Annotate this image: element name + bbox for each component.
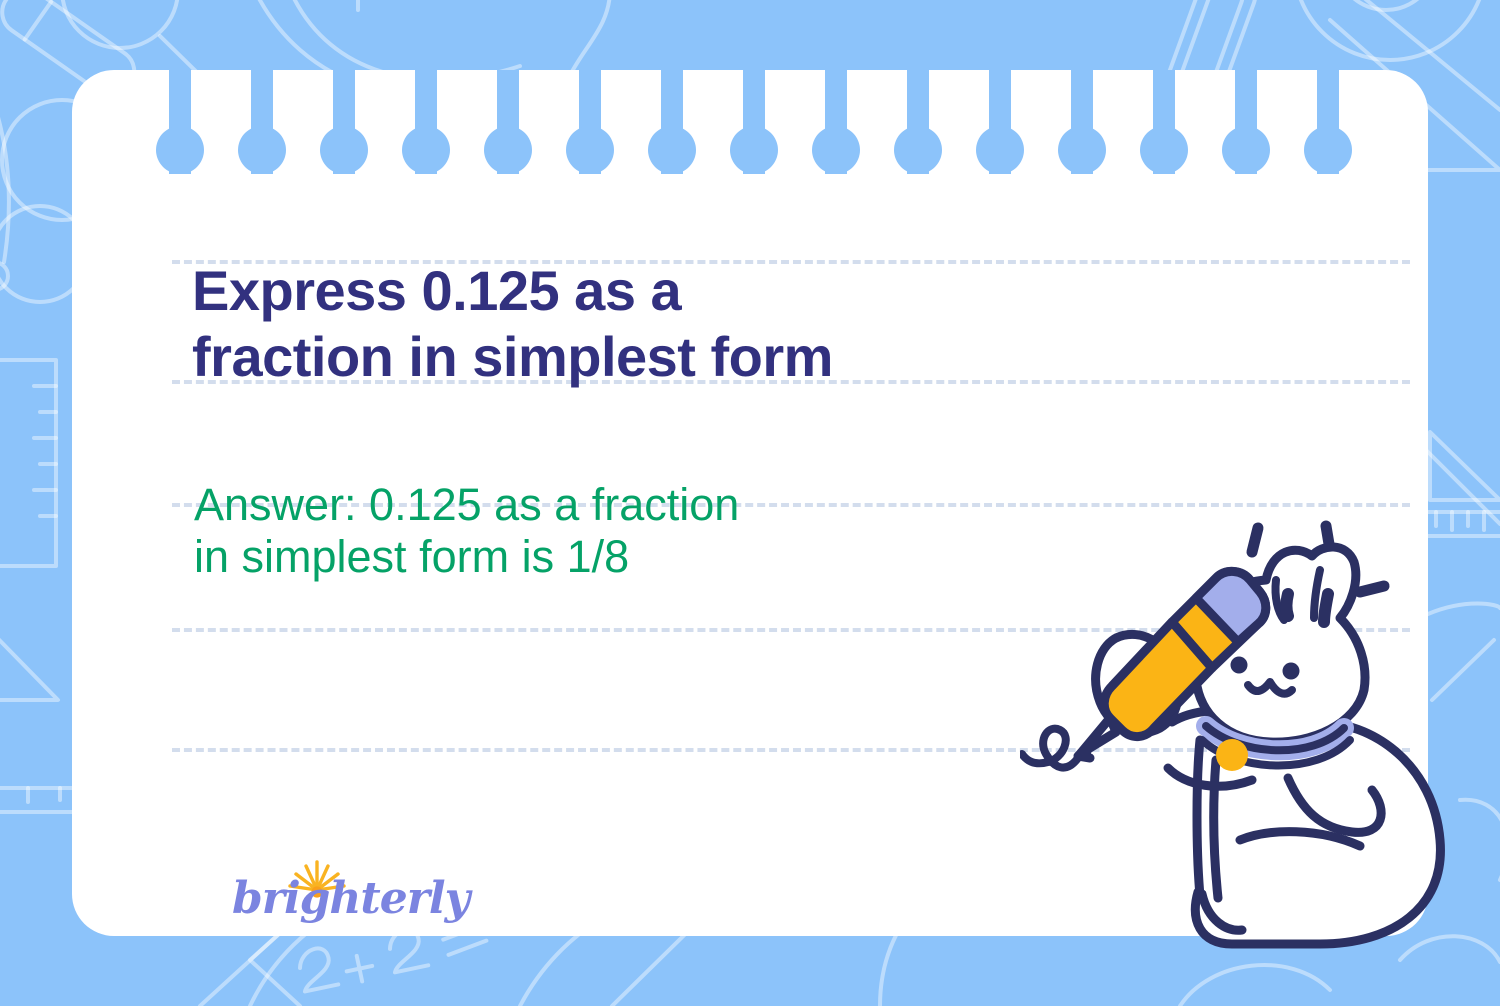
swoosh-doodle <box>338 0 378 10</box>
spiral-binding-ring <box>661 70 683 174</box>
spiral-binding-ring <box>333 70 355 174</box>
spiral-binding-ring <box>497 70 519 174</box>
ring-knob <box>1304 126 1352 174</box>
spiral-binding-ring <box>1071 70 1093 174</box>
ring-knob <box>894 126 942 174</box>
cat-with-pencil-illustration <box>1020 510 1460 960</box>
spiral-binding-ring <box>1153 70 1175 174</box>
spiral-binding-ring <box>169 70 191 174</box>
ring-knob <box>238 126 286 174</box>
spiral-binding-ring <box>743 70 765 174</box>
ring-knob <box>320 126 368 174</box>
pencil-squiggle <box>1022 729 1078 768</box>
answer-text: Answer: 0.125 as a fraction in simplest … <box>194 479 954 583</box>
spiral-binding-ring <box>1235 70 1257 174</box>
ring-knob <box>1140 126 1188 174</box>
ring-knob <box>648 126 696 174</box>
ring-knob <box>402 126 450 174</box>
question-title: Express 0.125 as a fraction in simplest … <box>192 258 1092 390</box>
worksheet-card-page: Express 0.125 as a fraction in simplest … <box>0 0 1500 1006</box>
spiral-binding-ring <box>907 70 929 174</box>
spiral-binding-ring <box>1317 70 1339 174</box>
ring-knob <box>566 126 614 174</box>
ring-knob <box>484 126 532 174</box>
ring-knob <box>976 126 1024 174</box>
ring-knob <box>812 126 860 174</box>
spiral-binding-ring <box>415 70 437 174</box>
logo-wordmark: brighterly <box>232 874 469 924</box>
ruler-doodle <box>0 360 56 566</box>
spiral-binding-ring <box>251 70 273 174</box>
cat-eye <box>1231 657 1248 674</box>
circle-doodle <box>1294 0 1486 60</box>
ring-knob <box>156 126 204 174</box>
ring-knob <box>730 126 778 174</box>
brighterly-logo[interactable]: brighterly <box>232 856 462 936</box>
spiral-binding-ring <box>825 70 847 174</box>
spiral-binding-ring <box>989 70 1011 174</box>
cat-bell <box>1216 739 1248 771</box>
set-square-doodle <box>0 610 58 700</box>
cat-eye <box>1283 663 1300 680</box>
notebook-card: Express 0.125 as a fraction in simplest … <box>72 70 1428 936</box>
ring-knob <box>1058 126 1106 174</box>
ring-knob <box>1222 126 1270 174</box>
spiral-binding-ring <box>579 70 601 174</box>
